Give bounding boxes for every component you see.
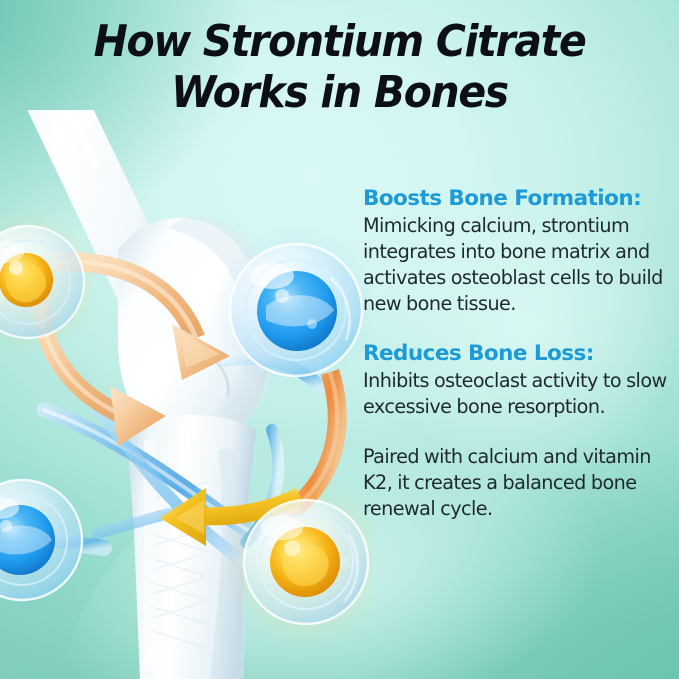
knee-joint-bone-illustration: [0, 110, 372, 679]
section-paired-with-calcium: Paired with calcium and vitamin K2, it c…: [363, 444, 675, 521]
section-body-boosts-bone-formation: Mimicking calcium, strontium integrates …: [363, 213, 675, 316]
section-heading-boosts-bone-formation: Boosts Bone Formation:: [363, 186, 675, 212]
section-boosts-bone-formation: Boosts Bone Formation: Mimicking calcium…: [363, 186, 675, 317]
title-line-1: How Strontium Citrate: [59, 16, 620, 67]
section-heading-reduces-bone-loss: Reduces Bone Loss:: [363, 341, 675, 367]
section-body-paired-with-calcium: Paired with calcium and vitamin K2, it c…: [363, 444, 675, 521]
infographic-canvas: How Strontium Citrate Works in Bones Boo…: [0, 0, 679, 679]
sphere-blue-lower-left: [0, 462, 100, 618]
page-title: How Strontium Citrate Works in Bones: [0, 16, 679, 119]
sphere-gold-upper-left: [0, 210, 100, 354]
section-reduces-bone-loss: Reduces Bone Loss: Inhibits osteoclast a…: [363, 341, 675, 420]
section-body-reduces-bone-loss: Inhibits osteoclast activity to slow exc…: [363, 368, 675, 420]
title-line-2: Works in Bones: [59, 67, 620, 118]
content-column: Boosts Bone Formation: Mimicking calcium…: [363, 186, 675, 521]
